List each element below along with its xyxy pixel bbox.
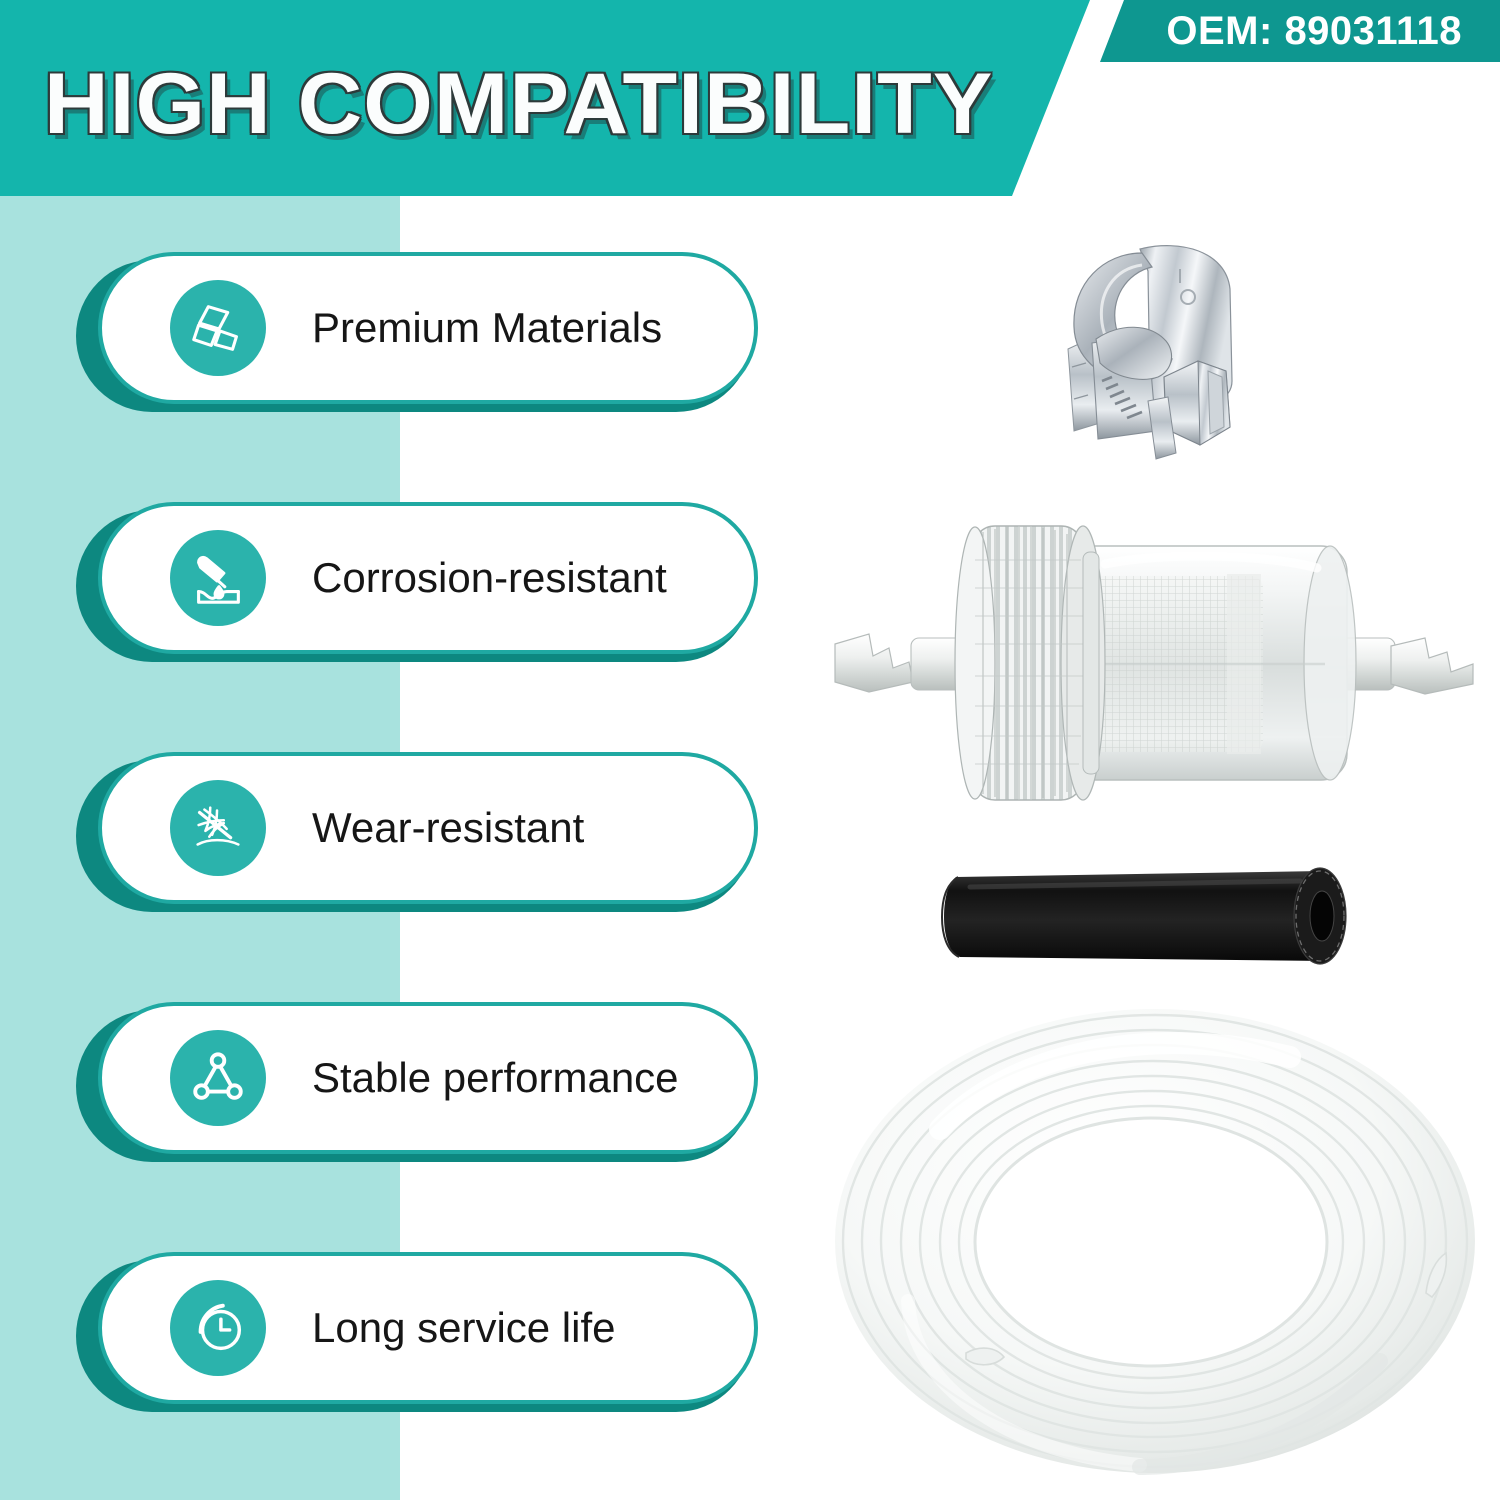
pill-body: Premium Materials: [98, 252, 758, 404]
feature-pill-premium-materials[interactable]: Premium Materials: [76, 252, 758, 412]
feature-pill-long-service-life[interactable]: Long service life: [76, 1252, 758, 1412]
oem-number-label: OEM: 89031118: [1166, 6, 1462, 56]
pill-body: Stable performance: [98, 1002, 758, 1154]
no-scratch-icon: [170, 780, 266, 876]
feature-label: Corrosion-resistant: [312, 554, 667, 602]
chemical-dropper-icon: [170, 530, 266, 626]
product-image-clear-tubing-coil: [820, 1001, 1490, 1481]
metal-ingots-icon: [170, 280, 266, 376]
product-image-inline-fuel-filter: [825, 516, 1485, 806]
product-image-mini-hose-clamp: [1030, 231, 1300, 481]
clock-icon: [170, 1280, 266, 1376]
feature-label: Premium Materials: [312, 304, 662, 352]
feature-pill-corrosion-resistant[interactable]: Corrosion-resistant: [76, 502, 758, 662]
pill-body: Corrosion-resistant: [98, 502, 758, 654]
feature-pill-stable-performance[interactable]: Stable performance: [76, 1002, 758, 1162]
feature-label: Stable performance: [312, 1054, 679, 1102]
triangle-nodes-icon: [170, 1030, 266, 1126]
feature-pill-wear-resistant[interactable]: Wear-resistant: [76, 752, 758, 912]
feature-label: Long service life: [312, 1304, 616, 1352]
product-image-black-rubber-hose: [930, 861, 1350, 971]
pill-body: Wear-resistant: [98, 752, 758, 904]
product-image-group: [790, 196, 1500, 1500]
feature-list: Premium Materials Corrosion-resistant: [0, 0, 800, 1500]
feature-label: Wear-resistant: [312, 804, 584, 852]
pill-body: Long service life: [98, 1252, 758, 1404]
